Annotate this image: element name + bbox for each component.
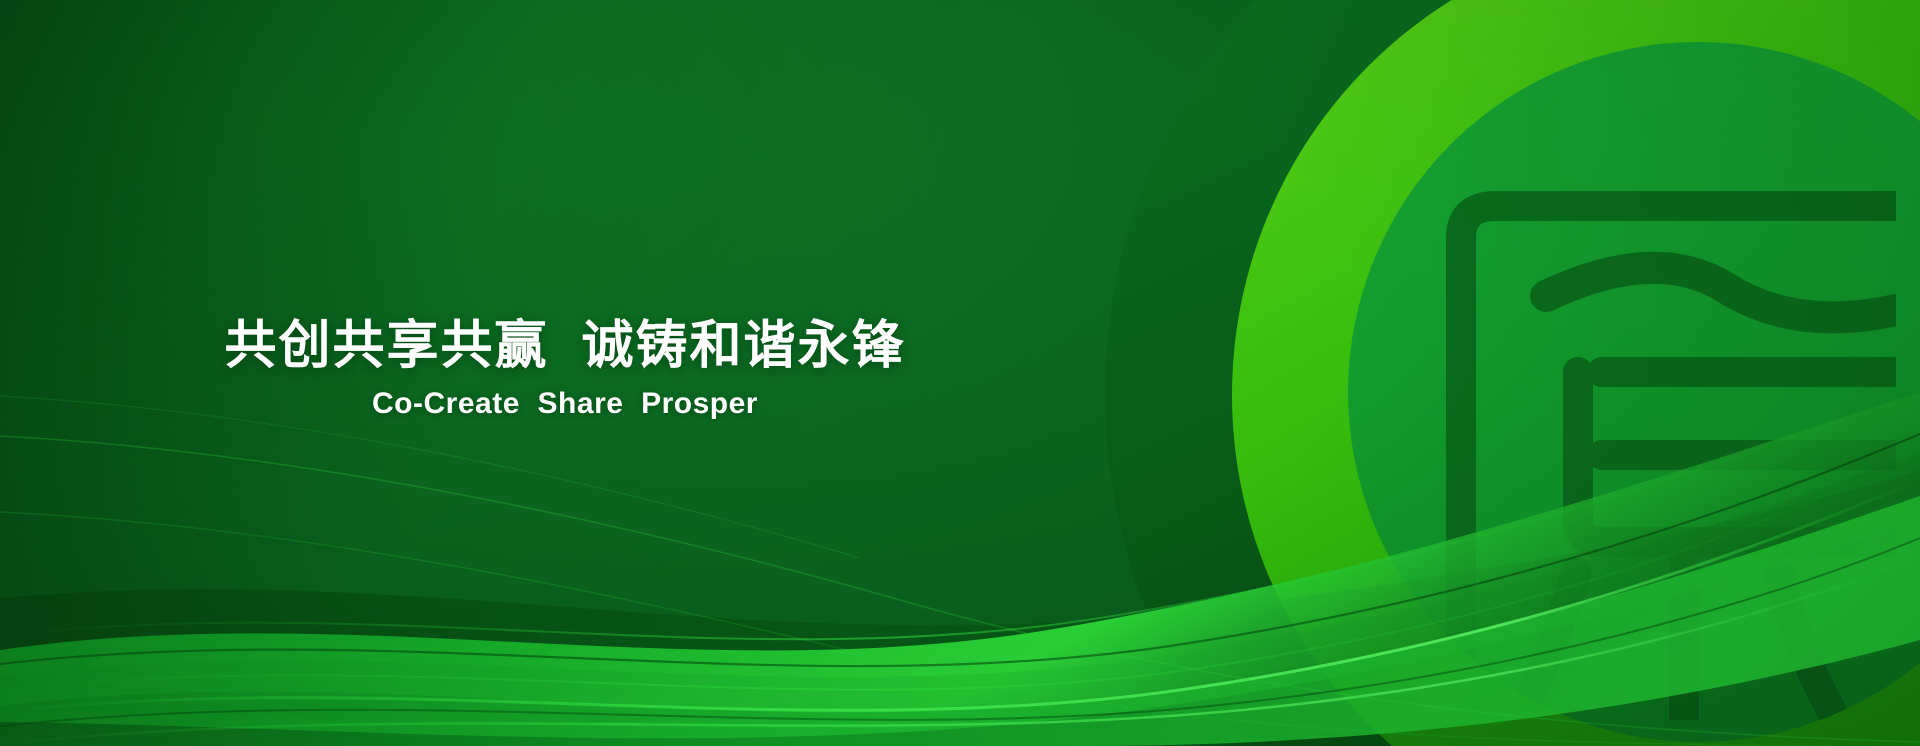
hero-banner: 共创共享共赢 诚铸和谐永锋 Co-Create Share Prosper <box>0 0 1920 746</box>
banner-subtitle: Co-Create Share Prosper <box>0 386 1130 422</box>
banner-title: 共创共享共赢 诚铸和谐永锋 <box>0 316 1130 376</box>
banner-text-block: 共创共享共赢 诚铸和谐永锋 Co-Create Share Prosper <box>0 316 1130 422</box>
